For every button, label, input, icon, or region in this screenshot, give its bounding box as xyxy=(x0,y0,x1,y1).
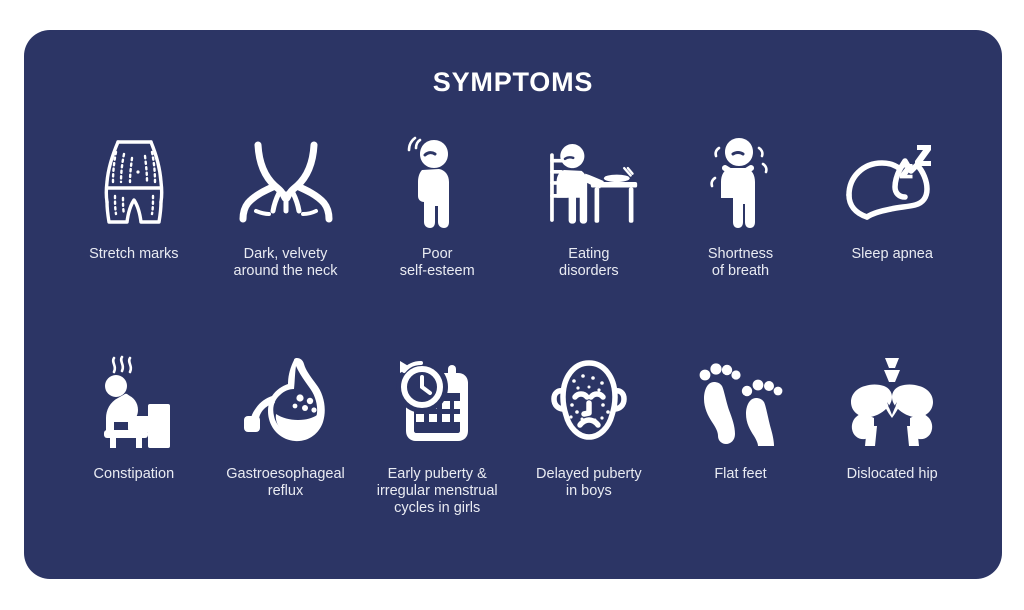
symptom-row-2: Constipation xyxy=(24,352,1002,517)
symptom-label: Stretch marks xyxy=(89,246,178,263)
symptom-label: Poor self-esteem xyxy=(400,246,475,280)
symptom-item-flat-feet[interactable]: Flat feet xyxy=(665,352,817,483)
footprints-icon xyxy=(691,352,791,452)
symptom-item-eating-disorders[interactable]: Eating disorders xyxy=(513,132,665,280)
symptom-label: Dislocated hip xyxy=(847,466,938,483)
symptom-item-sleep-apnea[interactable]: Sleep apnea xyxy=(816,132,968,263)
symptom-item-dark-velvety-neck[interactable]: Dark, velvety around the neck xyxy=(210,132,362,280)
symptom-label: Shortness of breath xyxy=(708,246,773,280)
symptom-label: Delayed puberty in boys xyxy=(536,466,642,500)
pelvis-bone-icon xyxy=(842,352,942,452)
person-breathless-icon xyxy=(691,132,791,232)
symptom-label: Constipation xyxy=(94,466,175,483)
neck-shoulders-icon xyxy=(236,132,336,232)
symptom-item-gastroesophageal-reflux[interactable]: Gastroesophageal reflux xyxy=(210,352,362,500)
symptom-item-shortness-of-breath[interactable]: Shortness of breath xyxy=(665,132,817,280)
symptom-row-1: Stretch marks xyxy=(24,132,1002,280)
symptom-label: Sleep apnea xyxy=(851,246,932,263)
sleeping-head-zzz-icon xyxy=(842,132,942,232)
symptom-item-dislocated-hip[interactable]: Dislocated hip xyxy=(816,352,968,483)
calendar-clock-icon xyxy=(387,352,487,452)
symptom-label: Dark, velvety around the neck xyxy=(234,246,338,280)
person-eating-at-table-icon xyxy=(539,132,639,232)
symptoms-card: SYMPTOMS xyxy=(24,30,1002,579)
symptom-item-stretch-marks[interactable]: Stretch marks xyxy=(58,132,210,263)
sad-person-icon xyxy=(387,132,487,232)
symptom-item-early-puberty[interactable]: Early puberty & irregular menstrual cycl… xyxy=(361,352,513,517)
page-title: SYMPTOMS xyxy=(24,67,1002,98)
stomach-reflux-icon xyxy=(236,352,336,452)
symptom-item-poor-self-esteem[interactable]: Poor self-esteem xyxy=(361,132,513,280)
symptom-label: Eating disorders xyxy=(559,246,619,280)
symptom-label: Early puberty & irregular menstrual cycl… xyxy=(377,466,498,517)
symptom-label: Flat feet xyxy=(714,466,766,483)
person-on-toilet-icon xyxy=(84,352,184,452)
symptom-item-delayed-puberty[interactable]: Delayed puberty in boys xyxy=(513,352,665,500)
symptom-label: Gastroesophageal reflux xyxy=(226,466,345,500)
symptom-item-constipation[interactable]: Constipation xyxy=(58,352,210,483)
torso-stretch-marks-icon xyxy=(84,132,184,232)
face-acne-icon xyxy=(539,352,639,452)
